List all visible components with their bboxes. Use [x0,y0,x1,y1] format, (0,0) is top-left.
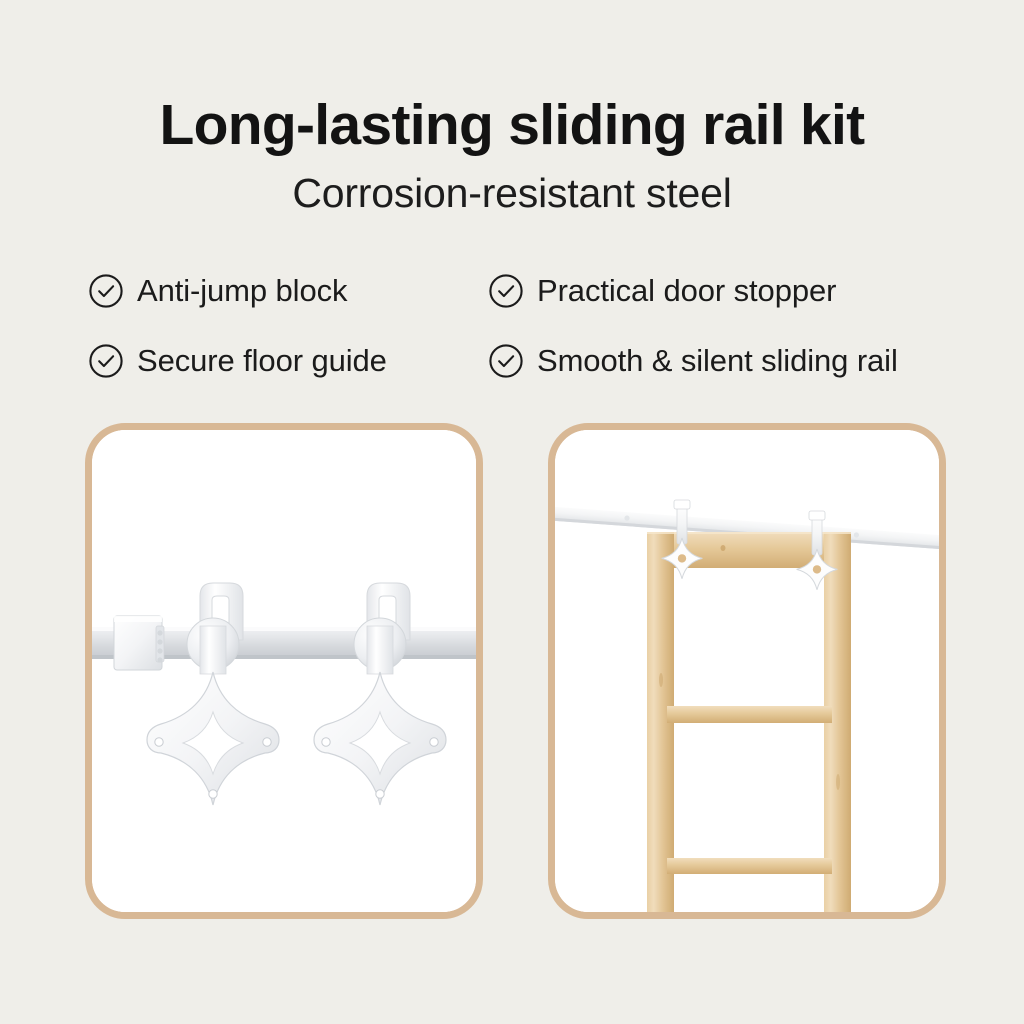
feature-label: Secure floor guide [137,343,387,379]
feature-item-practical-door-stopper: Practical door stopper [488,273,960,309]
check-circle-icon [88,343,124,379]
feature-list: Anti-jump block Practical door stopper S… [88,256,960,396]
check-circle-icon [88,273,124,309]
check-circle-icon [488,273,524,309]
feature-label: Practical door stopper [537,273,836,309]
image-card-installed-door [548,423,946,919]
feature-item-smooth-silent-sliding-rail: Smooth & silent sliding rail [488,343,960,379]
header: Long-lasting sliding rail kit Corrosion-… [0,0,1024,216]
feature-item-anti-jump-block: Anti-jump block [88,273,488,309]
hardware-detail-photo [92,430,476,912]
check-circle-icon [488,343,524,379]
installed-door-photo [555,430,939,912]
page-subtitle: Corrosion-resistant steel [0,155,1024,216]
feature-label: Smooth & silent sliding rail [537,343,898,379]
stopper-block [114,616,164,670]
product-feature-panel: Long-lasting sliding rail kit Corrosion-… [0,0,1024,1024]
feature-item-secure-floor-guide: Secure floor guide [88,343,488,379]
page-title: Long-lasting sliding rail kit [0,0,1024,155]
image-card-row [85,423,945,919]
image-card-hardware-detail [85,423,483,919]
feature-label: Anti-jump block [137,273,347,309]
